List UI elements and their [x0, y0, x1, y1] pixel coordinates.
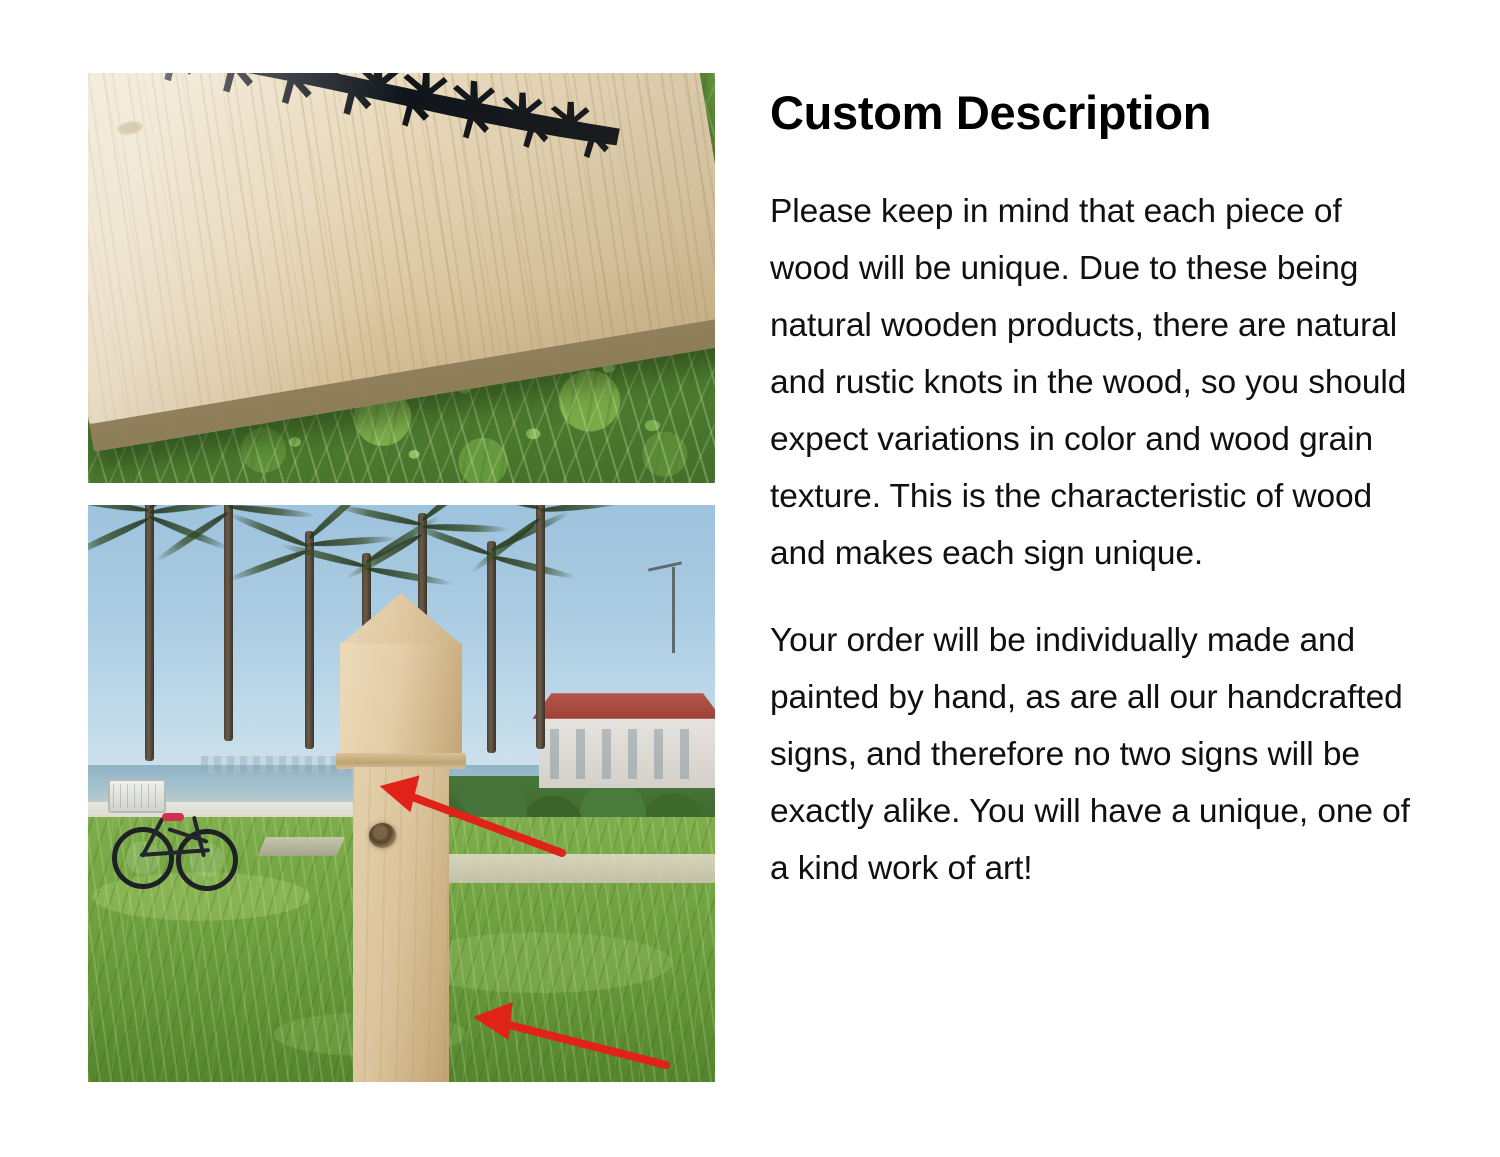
palm-tree — [528, 505, 552, 749]
concrete-ramp — [257, 837, 345, 857]
description-paragraph-2: Your order will be individually made and… — [770, 612, 1425, 897]
bicycle-wheel — [176, 829, 238, 891]
wooden-post-photo — [88, 505, 715, 1082]
post-head — [340, 643, 462, 755]
paved-path — [433, 854, 715, 883]
palm-tree — [480, 541, 502, 753]
page-title: Custom Description — [770, 88, 1425, 139]
palm-trunk — [224, 505, 233, 741]
palm-trunk — [487, 541, 496, 753]
product-image-gallery — [88, 73, 715, 1082]
post-pyramid-cap — [340, 593, 462, 645]
plank-face — [88, 73, 715, 424]
wood-board-photo — [88, 73, 715, 483]
wooden-post — [340, 593, 462, 1082]
description-paragraph-1: Please keep in mind that each piece of w… — [770, 183, 1425, 582]
post-body — [353, 767, 449, 1082]
beachfront-building — [539, 713, 715, 788]
bicycle-wheel — [112, 827, 174, 889]
product-description-page: Custom Description Please keep in mind t… — [0, 0, 1500, 1157]
street-lamp-pole — [672, 567, 675, 653]
palm-tree — [136, 505, 162, 761]
branch-silhouette-art — [88, 73, 715, 424]
palm-tree — [298, 531, 320, 749]
plank-knot — [116, 119, 144, 136]
palm-trunk — [305, 531, 314, 749]
palm-trunk — [536, 505, 545, 749]
description-text-column: Custom Description Please keep in mind t… — [770, 88, 1425, 897]
palm-trunk — [145, 505, 154, 761]
post-knot-upper — [369, 823, 396, 848]
bicycle-basket — [108, 779, 166, 813]
palm-tree — [216, 505, 240, 741]
bicycle-seat — [162, 813, 184, 821]
bicycle — [106, 781, 256, 901]
